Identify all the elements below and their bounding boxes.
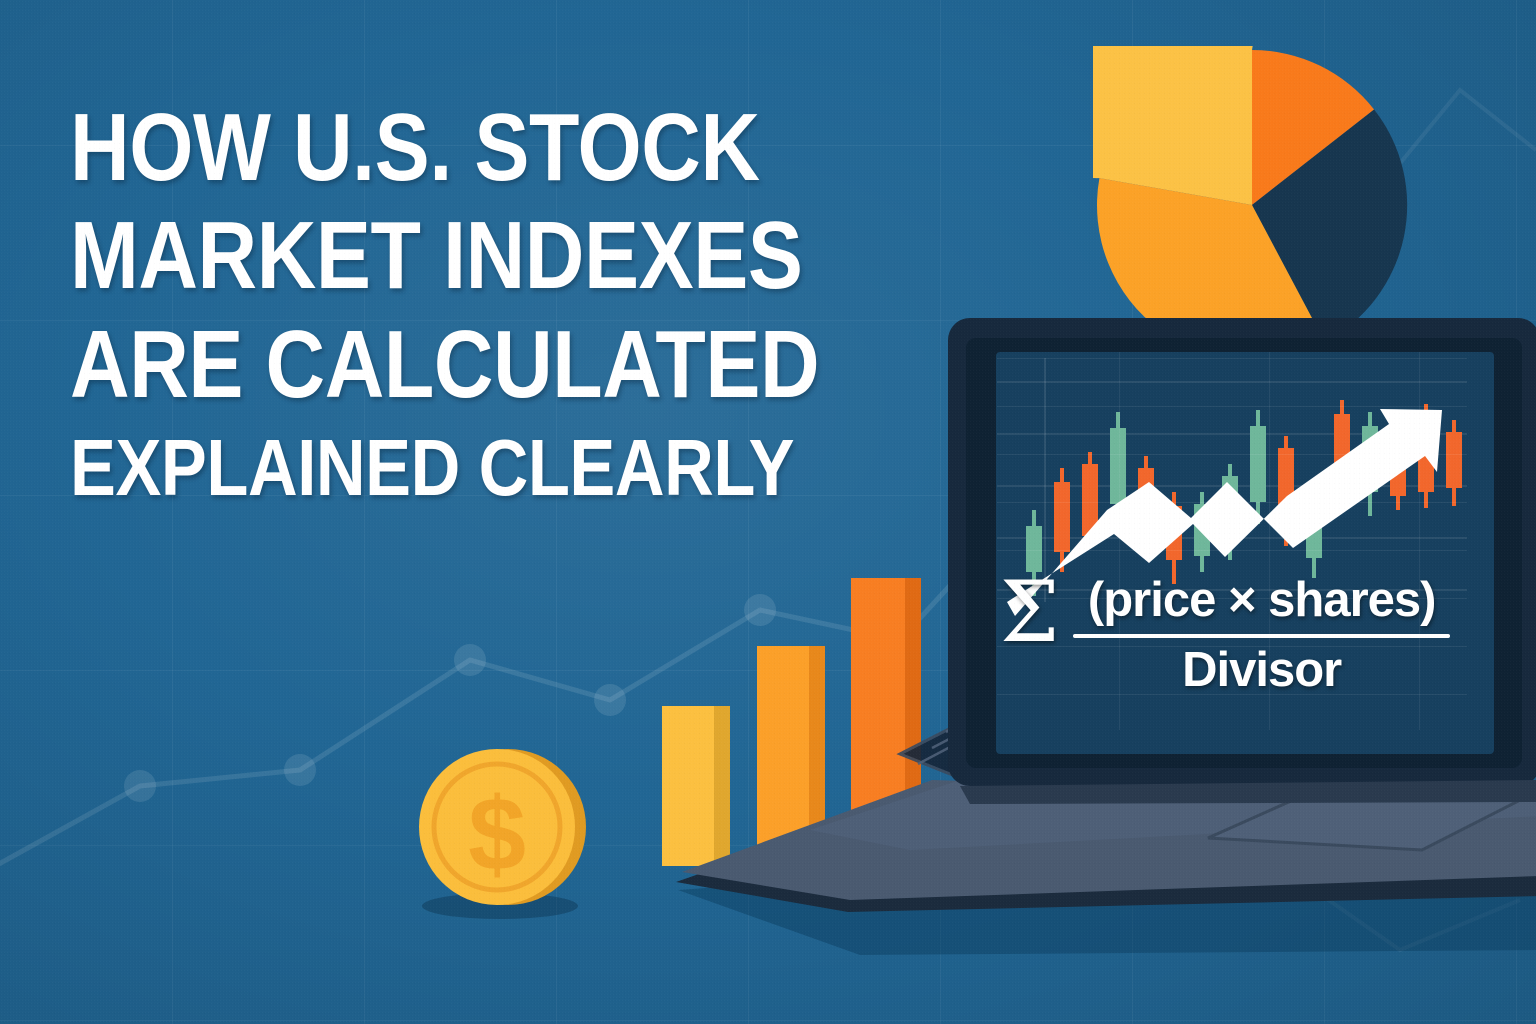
sigma-symbol: Σ [1000, 576, 1059, 650]
headline-line-2: MARKET INDEXES [70, 212, 810, 300]
formula-fraction-bar [1073, 634, 1450, 638]
index-formula: Σ (price × shares) Divisor [1000, 574, 1450, 698]
coin-dollar-symbol: $ [468, 777, 526, 893]
dollar-coin: $ [412, 742, 602, 922]
infographic-canvas: HOW U.S. STOCK MARKET INDEXES ARE CALCUL… [0, 0, 1536, 1024]
formula-denominator: Divisor [1073, 644, 1450, 698]
formula-numerator: (price × shares) [1073, 574, 1450, 627]
headline-line-1: HOW U.S. STOCK [70, 104, 810, 192]
formula-fraction: (price × shares) Divisor [1073, 574, 1450, 698]
pie-slice-light-yellow [1093, 46, 1254, 205]
